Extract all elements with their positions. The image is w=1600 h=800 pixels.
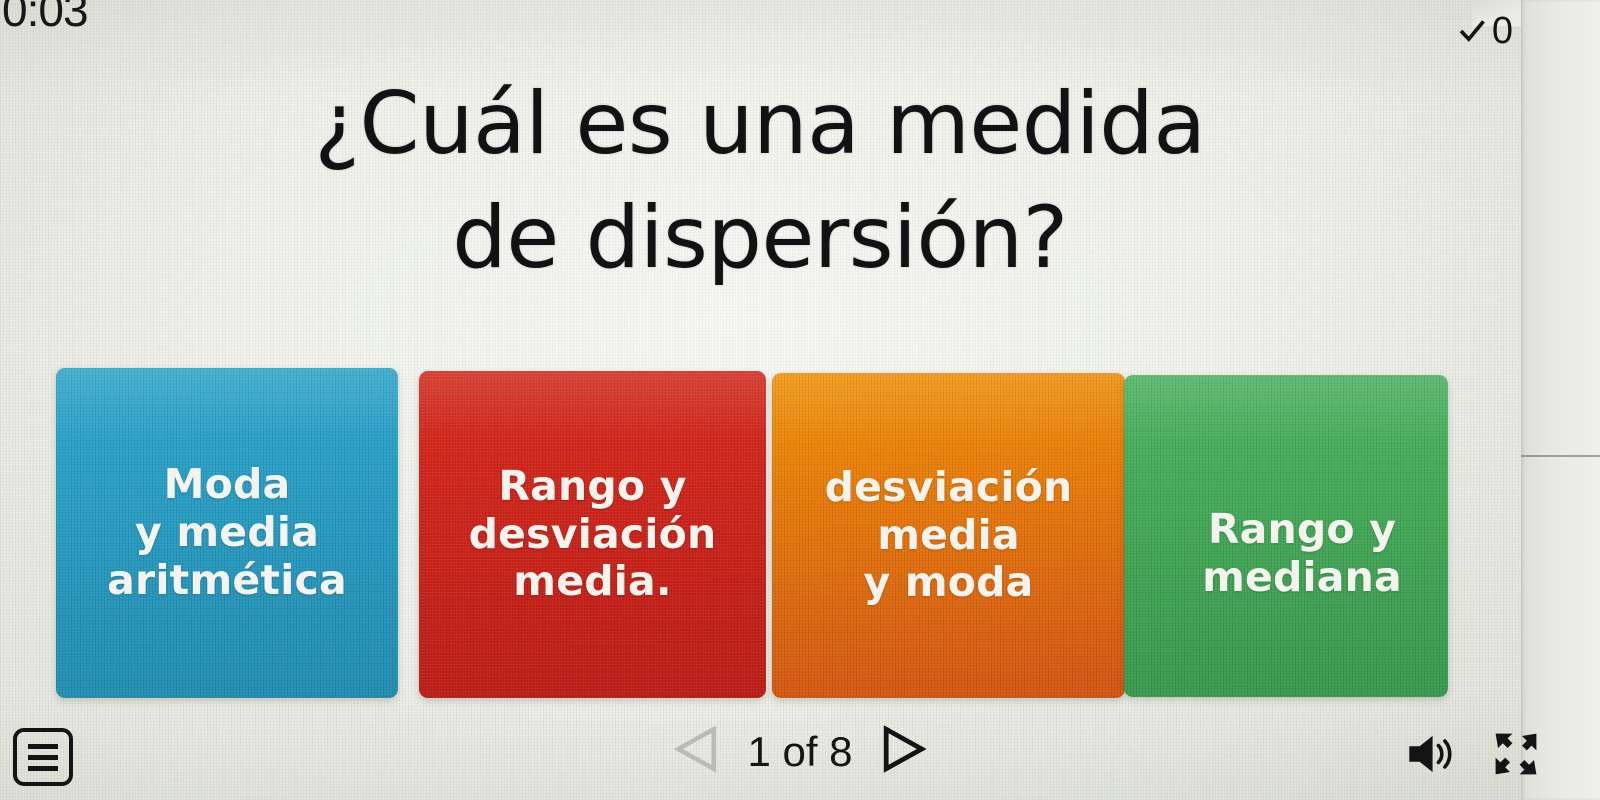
menu-line: [28, 766, 58, 771]
answer-card-green[interactable]: Rango y mediana: [1124, 375, 1448, 697]
answer-card-orange[interactable]: desviación media y moda: [772, 373, 1125, 698]
answer-label-green: Rango y mediana: [1202, 506, 1402, 602]
answer-label-blue: Moda y media aritmética: [107, 461, 347, 605]
check-icon: [1459, 18, 1485, 44]
answer-card-blue[interactable]: Moda y media aritmética: [56, 368, 398, 698]
answer-label-orange: desviación media y moda: [825, 464, 1073, 608]
quiz-screen: 0:03 0 ¿Cuál es una medida de dispersión…: [0, 0, 1600, 800]
next-arrow-icon[interactable]: [873, 720, 931, 783]
previous-arrow-icon[interactable]: [669, 720, 727, 783]
menu-line: [28, 755, 58, 760]
fullscreen-icon[interactable]: [1492, 730, 1540, 783]
answer-card-red[interactable]: Rango y desviación media.: [419, 371, 766, 698]
hamburger-menu-icon[interactable]: [13, 728, 73, 786]
menu-line: [28, 744, 58, 749]
screen-bezel-seam: [1521, 455, 1600, 457]
countdown-timer: 0:03: [2, 0, 88, 37]
question-text: ¿Cuál es una medida de dispersión?: [60, 68, 1460, 295]
answer-label-red: Rango y desviación media.: [469, 463, 717, 607]
question-line-2: de dispersión?: [60, 182, 1460, 296]
question-line-1: ¿Cuál es una medida: [314, 74, 1205, 174]
screen-bezel-right: [1521, 0, 1600, 800]
score-value: 0: [1492, 12, 1513, 50]
volume-icon[interactable]: [1404, 732, 1456, 781]
score-indicator: 0: [1459, 12, 1513, 50]
